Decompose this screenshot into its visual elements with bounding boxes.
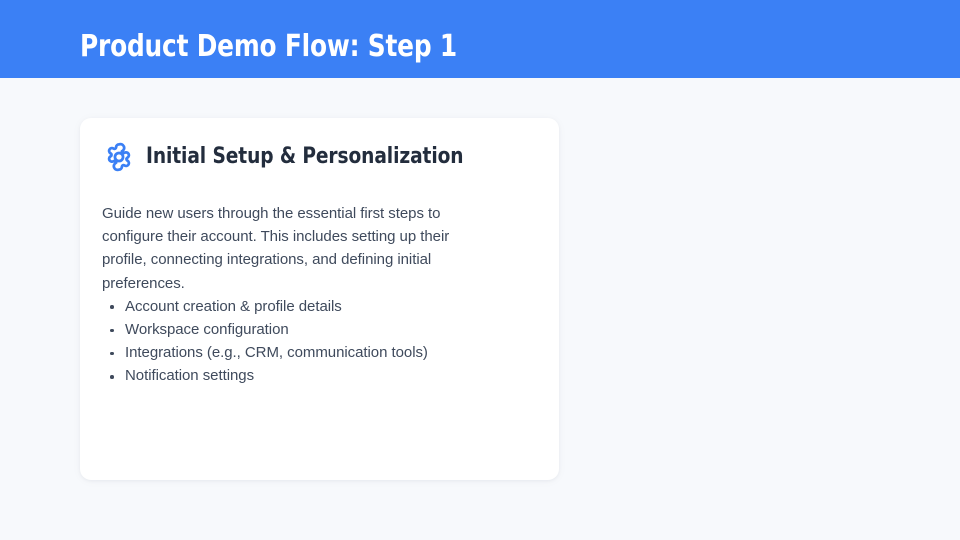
feature-list: Account creation & profile details Works…	[102, 295, 541, 388]
content-card: Initial Setup & Personalization Guide ne…	[80, 118, 559, 480]
card-description: Guide new users through the essential fi…	[102, 202, 466, 295]
card-body: Guide new users through the essential fi…	[102, 202, 541, 388]
card-title: Initial Setup & Personalization	[146, 144, 463, 170]
page-title: Product Demo Flow: Step 1	[80, 28, 457, 66]
list-item: Notification settings	[102, 364, 541, 387]
header-band: Product Demo Flow: Step 1	[0, 0, 960, 78]
list-item: Account creation & profile details	[102, 295, 541, 318]
gear-icon	[102, 140, 136, 174]
slide-root: Product Demo Flow: Step 1 Initial Setup …	[0, 0, 960, 540]
card-header: Initial Setup & Personalization	[102, 140, 484, 174]
list-item: Workspace configuration	[102, 318, 541, 341]
list-item: Integrations (e.g., CRM, communication t…	[102, 341, 541, 364]
